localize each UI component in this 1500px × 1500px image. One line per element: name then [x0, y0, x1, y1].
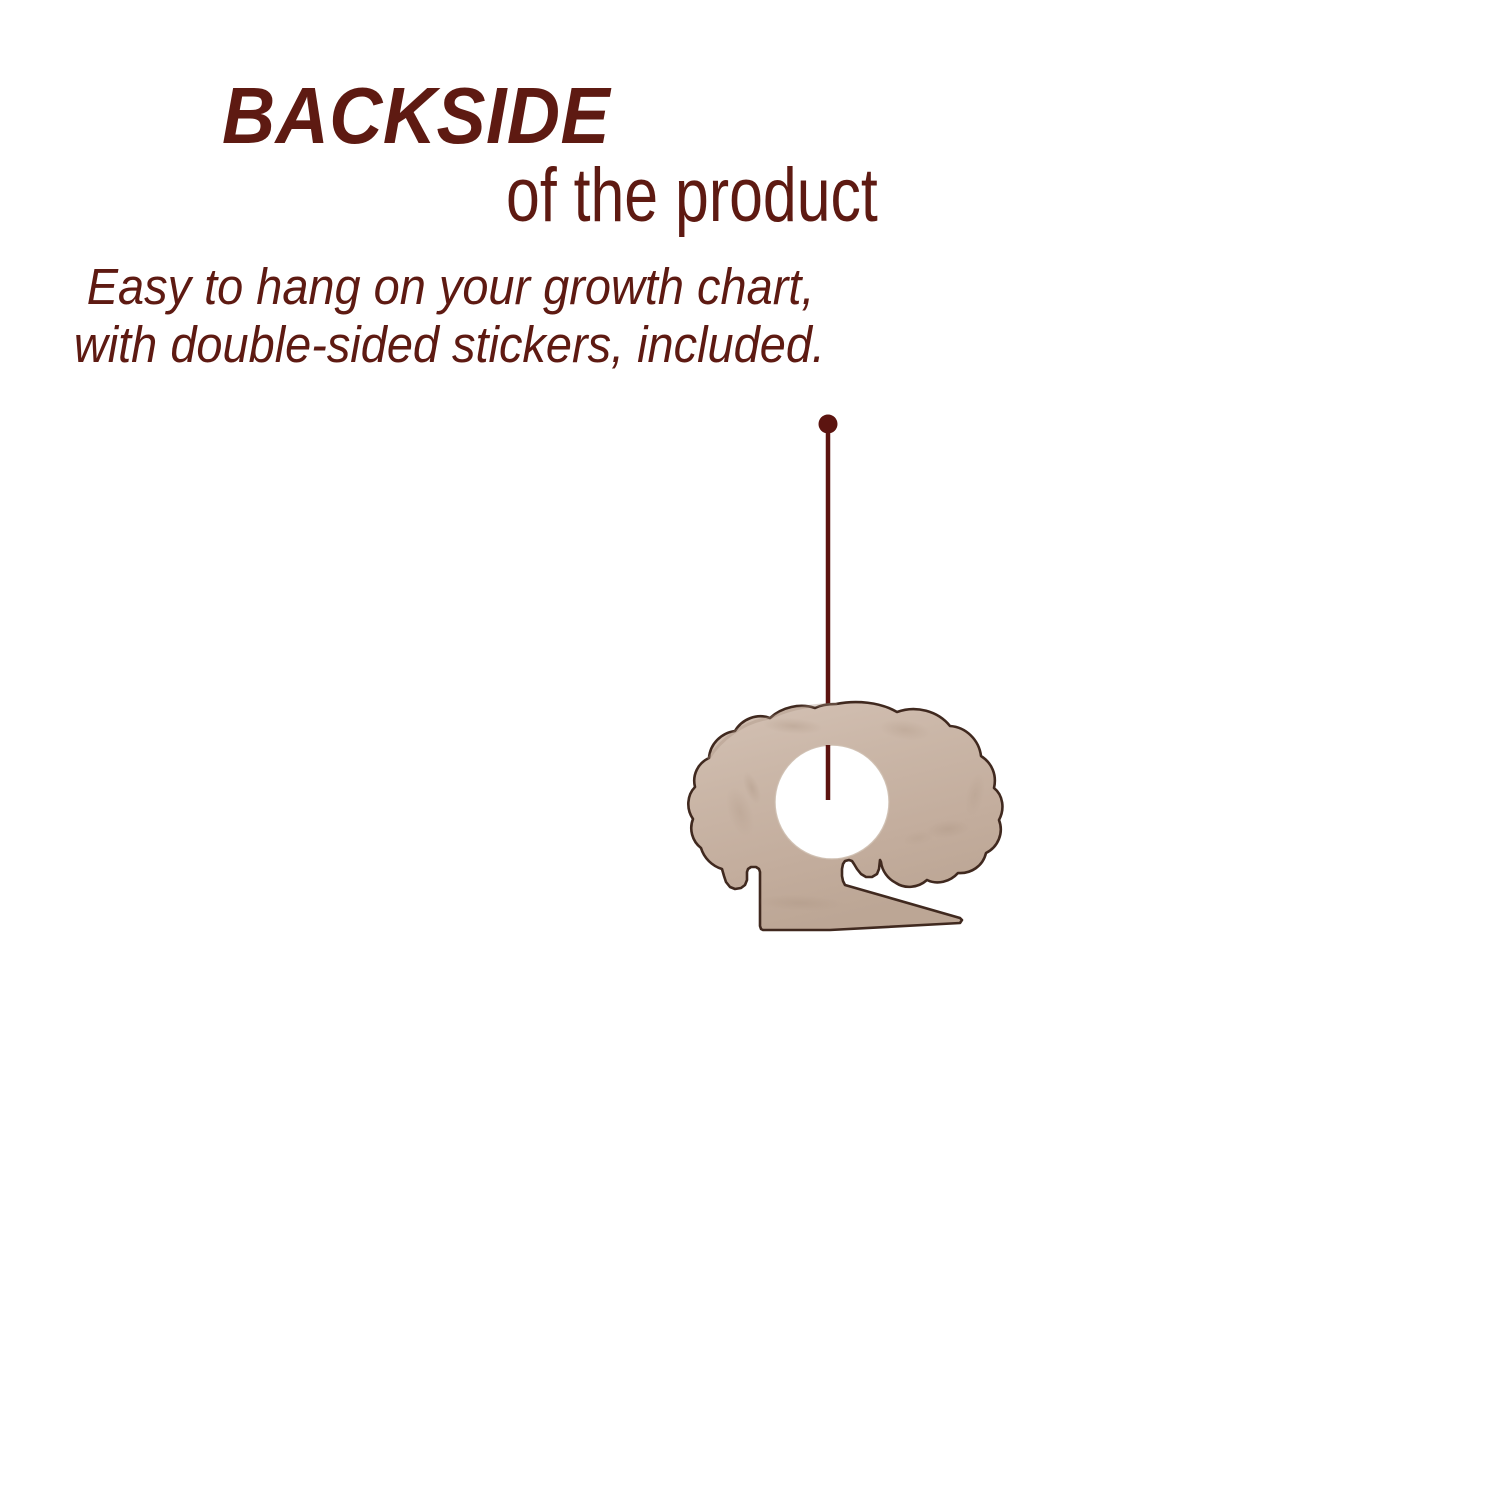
description-block: Easy to hang on your growth chart, with … — [72, 258, 1084, 374]
pin-head-icon — [819, 415, 838, 434]
mounting-hole — [775, 745, 889, 859]
headline-primary: BACKSIDE — [222, 76, 610, 156]
headline-secondary: of the product — [506, 158, 878, 234]
description-line-2: with double-sided stickers, included. — [72, 316, 1084, 374]
description-line-1: Easy to hang on your growth chart, — [72, 258, 1084, 316]
wooden-sheep-shape — [688, 702, 1002, 930]
mounting-hole-rim — [775, 745, 889, 859]
product-image-canvas: BACKSIDE of the product Easy to hang on … — [0, 0, 1500, 1500]
headline-block: BACKSIDE of the product — [0, 0, 1500, 250]
